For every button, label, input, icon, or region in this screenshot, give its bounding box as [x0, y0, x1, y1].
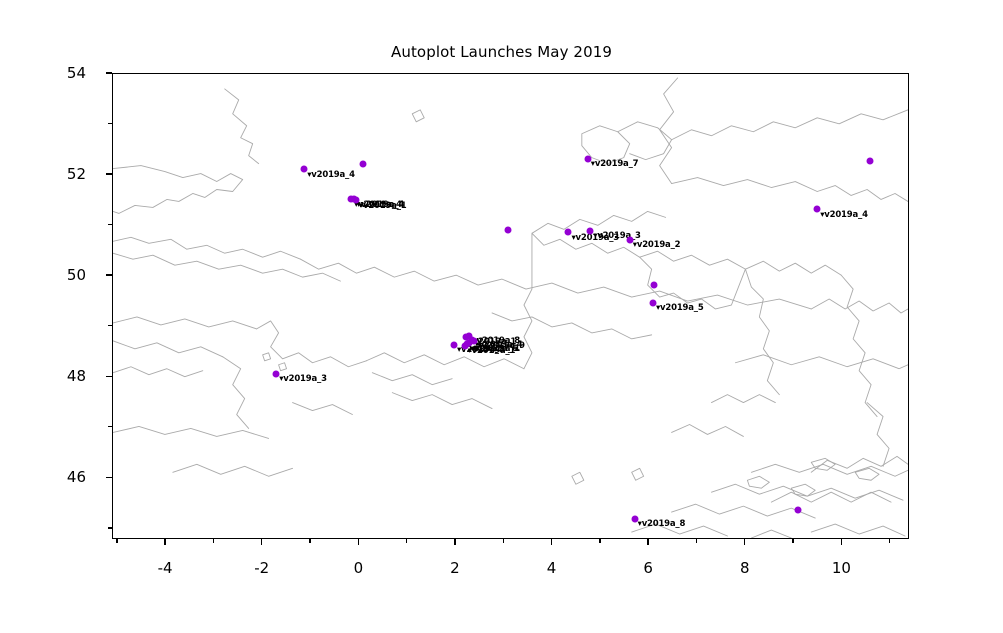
x-axis-tick-minor [696, 539, 697, 543]
x-axis-tick-label: 10 [832, 559, 851, 577]
x-axis-tick-minor [889, 539, 890, 543]
scatter-point-label: ▾v2019a_5 [656, 304, 704, 313]
y-axis-tick-label: 48 [67, 367, 86, 385]
x-axis-tick-major [841, 539, 842, 545]
x-axis-tick-label: 0 [354, 559, 364, 577]
x-axis-tick-label: 6 [643, 559, 653, 577]
x-axis-tick-label: 8 [740, 559, 750, 577]
x-axis-tick-major [454, 539, 455, 545]
scatter-point-label: ▾v2019a_4 [820, 211, 868, 220]
y-axis-tick-label: 46 [67, 468, 86, 486]
x-axis-tick-minor [116, 539, 117, 543]
x-axis-tick-minor [213, 539, 214, 543]
y-axis-tick-minor [108, 224, 112, 225]
x-axis-tick-major [551, 539, 552, 545]
scatter-point-label: ▾v2019a_7 [591, 160, 639, 169]
y-axis-tick-major [106, 274, 112, 275]
y-axis-tick-minor [108, 527, 112, 528]
y-axis-tick-major [106, 376, 112, 377]
y-axis-tick-major [106, 477, 112, 478]
scatter-point[interactable] [794, 507, 801, 514]
x-axis-tick-label: -4 [158, 559, 173, 577]
x-axis-tick-label: -2 [254, 559, 269, 577]
y-axis-tick-label: 54 [67, 64, 86, 82]
scatter-point-label: ▾v2019a_2 [633, 241, 681, 250]
map-plot-area[interactable] [112, 73, 909, 539]
y-axis-tick-minor [108, 325, 112, 326]
y-axis-tick-minor [108, 123, 112, 124]
y-axis-tick-major [106, 72, 112, 73]
scatter-point[interactable] [360, 160, 367, 167]
x-axis-tick-major [647, 539, 648, 545]
x-axis-tick-minor [599, 539, 600, 543]
x-axis-tick-label: 2 [450, 559, 460, 577]
x-axis-tick-major [164, 539, 165, 545]
scatter-point[interactable] [867, 158, 874, 165]
x-axis-tick-minor [503, 539, 504, 543]
scatter-point-label: ▾v2019a_8 [638, 520, 686, 529]
x-axis-tick-minor [792, 539, 793, 543]
scatter-point-label: ▾v2019a_1 [359, 202, 407, 211]
scatter-point-label: ▾v2019a_3 [279, 375, 327, 384]
x-axis-tick-major [744, 539, 745, 545]
x-axis-tick-major [358, 539, 359, 545]
scatter-point[interactable] [650, 282, 657, 289]
scatter-point-label: ▾v2019a_9 [477, 342, 525, 351]
plot-figure: Autoplot Launches May 2019 [0, 0, 1003, 633]
y-axis-tick-label: 50 [67, 266, 86, 284]
scatter-point-label: ▾v2019a_4 [307, 171, 355, 180]
x-axis-tick-major [261, 539, 262, 545]
y-axis-tick-label: 52 [67, 165, 86, 183]
x-axis-tick-minor [309, 539, 310, 543]
y-axis-tick-major [106, 173, 112, 174]
basemap-coastlines [113, 74, 908, 538]
x-axis-tick-minor [406, 539, 407, 543]
scatter-point[interactable] [505, 226, 512, 233]
page-title: Autoplot Launches May 2019 [0, 43, 1003, 61]
y-axis-tick-minor [108, 426, 112, 427]
x-axis-tick-label: 4 [547, 559, 557, 577]
